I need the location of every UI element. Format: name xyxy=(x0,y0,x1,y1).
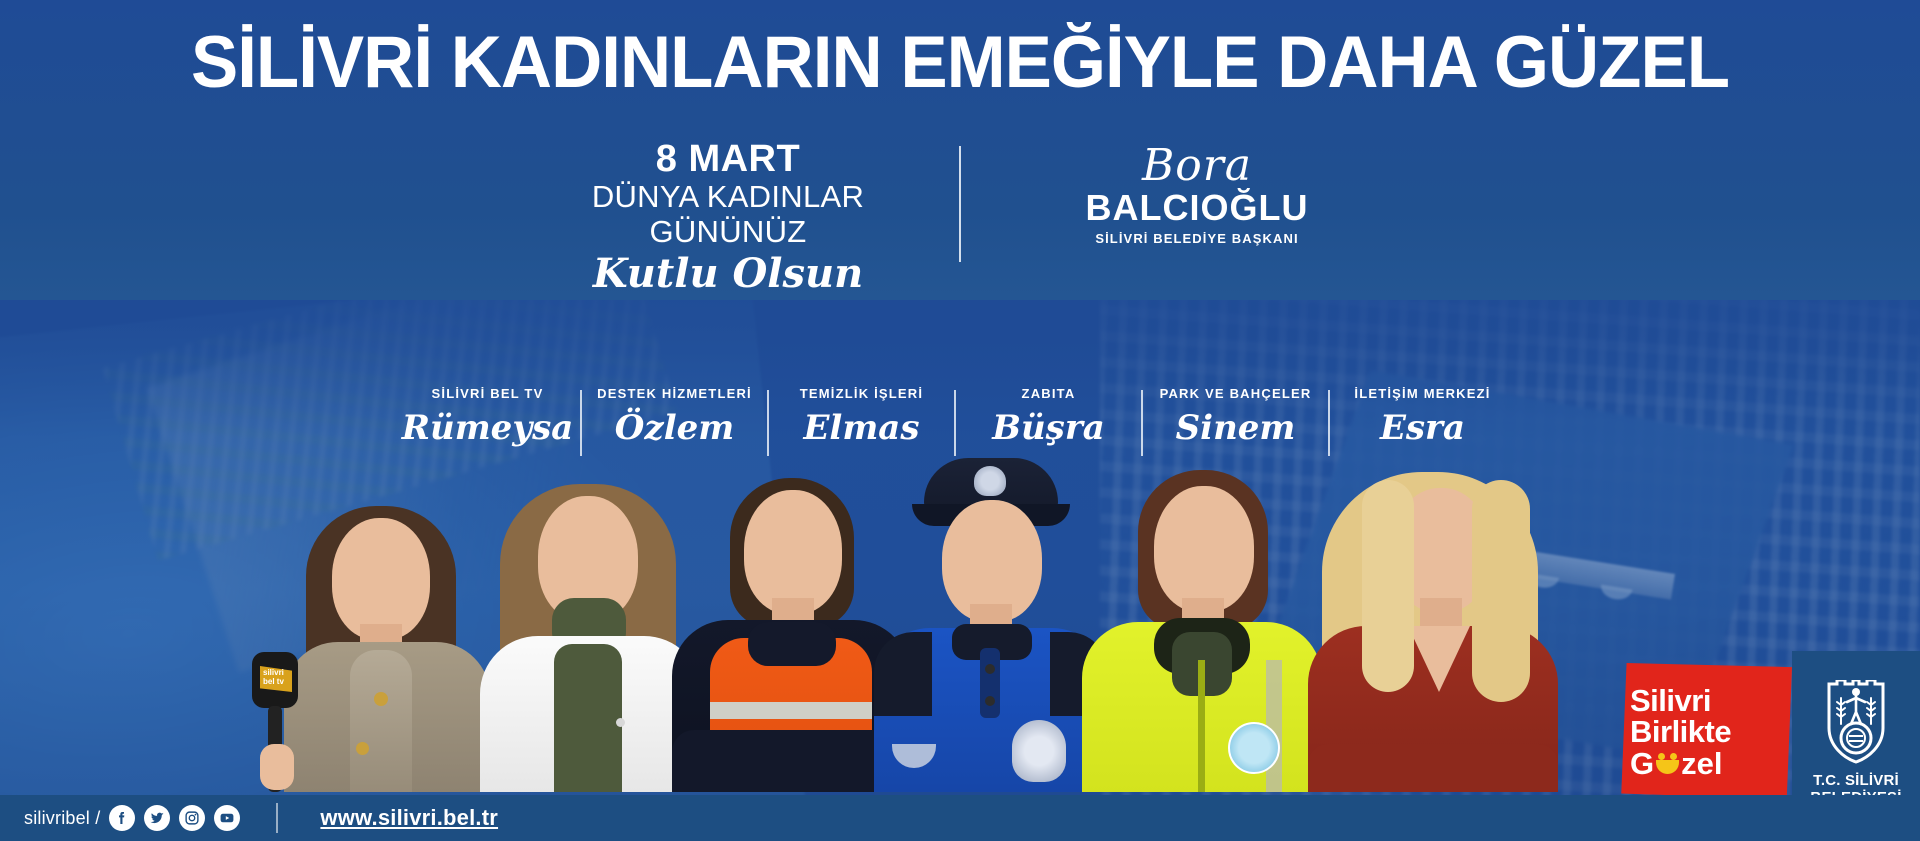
mayor-last-name: BALCIOĞLU xyxy=(1013,188,1381,228)
staff-department: ZABITA xyxy=(956,386,1141,402)
occasion-line4: Kutlu Olsun xyxy=(539,251,917,297)
microphone: silivri bel tv xyxy=(252,652,298,792)
slogan-badge: Silivri Birlikte G zel xyxy=(1616,663,1792,799)
mayor-role: SİLİVRİ BELEDİYE BAŞKANI xyxy=(1013,231,1381,246)
staff-department: TEMİZLİK İŞLERİ xyxy=(769,386,954,402)
lapel xyxy=(350,650,412,792)
cap-badge xyxy=(974,466,1006,496)
campaign-banner: SİLİVRİ KADINLARIN EMEĞİYLE DAHA GÜZEL 8… xyxy=(0,0,1920,841)
coat-button xyxy=(356,742,369,755)
social-group: silivribel / xyxy=(24,805,240,831)
slogan-line3-after: zel xyxy=(1681,748,1722,780)
smiley-eye-left xyxy=(1658,753,1665,760)
portrait-esra xyxy=(1286,462,1586,792)
slogan-line1: Silivri xyxy=(1630,685,1780,717)
occasion-line3: GÜNÜNÜZ xyxy=(539,215,917,250)
shirt-button xyxy=(985,664,995,674)
municipality-chest-logo xyxy=(1228,722,1280,774)
facebook-icon[interactable] xyxy=(109,805,135,831)
page-title: SİLİVRİ KADINLARIN EMEĞİYLE DAHA GÜZEL xyxy=(29,26,1891,99)
occasion-text: 8 MART DÜNYA KADINLAR GÜNÜNÜZ Kutlu Olsu… xyxy=(539,140,959,297)
face xyxy=(1154,486,1254,612)
placket xyxy=(980,648,1000,718)
slogan-line3-before: G xyxy=(1630,748,1654,780)
slogan-line2: Birlikte xyxy=(1630,716,1780,748)
reflective-stripe xyxy=(710,702,872,719)
hair-strand xyxy=(1472,480,1530,702)
mic-line2: bel tv xyxy=(263,677,284,686)
staff-department: DESTEK HİZMETLERİ xyxy=(582,386,767,402)
social-handle: silivribel / xyxy=(24,808,100,829)
occasion-signature-block: 8 MART DÜNYA KADINLAR GÜNÜNÜZ Kutlu Olsu… xyxy=(0,140,1920,297)
mic-line1: silivri xyxy=(263,668,284,677)
footer-divider xyxy=(276,803,278,833)
staff-portraits: silivri bel tv xyxy=(276,427,1606,792)
slogan-line3: G zel xyxy=(1630,748,1780,780)
smiley-icon xyxy=(1655,751,1680,776)
hair-strand xyxy=(1362,480,1414,692)
occasion-line2: DÜNYA KADINLAR xyxy=(539,180,917,215)
coat-button xyxy=(374,692,388,706)
staff-department: İLETİŞİM MERKEZİ xyxy=(1330,386,1515,402)
shirt-button xyxy=(985,696,995,706)
occasion-date: 8 MART xyxy=(539,140,917,180)
shoulder-panel xyxy=(874,632,932,716)
smiley-eye-right xyxy=(1670,753,1677,760)
staff-department: SİLİVRİ BEL TV xyxy=(395,386,580,402)
zipper xyxy=(1198,660,1205,792)
vertical-divider xyxy=(959,146,961,262)
staff-department: PARK VE BAHÇELER xyxy=(1143,386,1328,402)
municipality-crest-icon xyxy=(1825,680,1887,764)
mic-branding: silivri bel tv xyxy=(263,668,284,686)
twitter-icon[interactable] xyxy=(144,805,170,831)
instagram-icon[interactable] xyxy=(179,805,205,831)
smiley-mouth xyxy=(1656,760,1679,774)
inner-top xyxy=(554,644,622,792)
coat-button xyxy=(616,718,625,727)
collar xyxy=(748,622,836,666)
mayor-first-name: Bora xyxy=(1013,144,1381,188)
hand xyxy=(260,744,294,790)
face xyxy=(744,490,842,614)
website-link[interactable]: www.silivri.bel.tr xyxy=(320,805,498,831)
footer-bar: silivribel / www xyxy=(0,795,1920,841)
crossed-arms xyxy=(1308,744,1558,792)
chest-badge xyxy=(1012,720,1066,782)
face xyxy=(332,518,430,640)
mayor-signature: Bora BALCIOĞLU SİLİVRİ BELEDİYE BAŞKANI xyxy=(961,140,1381,246)
municipality-line1: T.C. SİLİVRİ xyxy=(1813,772,1899,789)
youtube-icon[interactable] xyxy=(214,805,240,831)
